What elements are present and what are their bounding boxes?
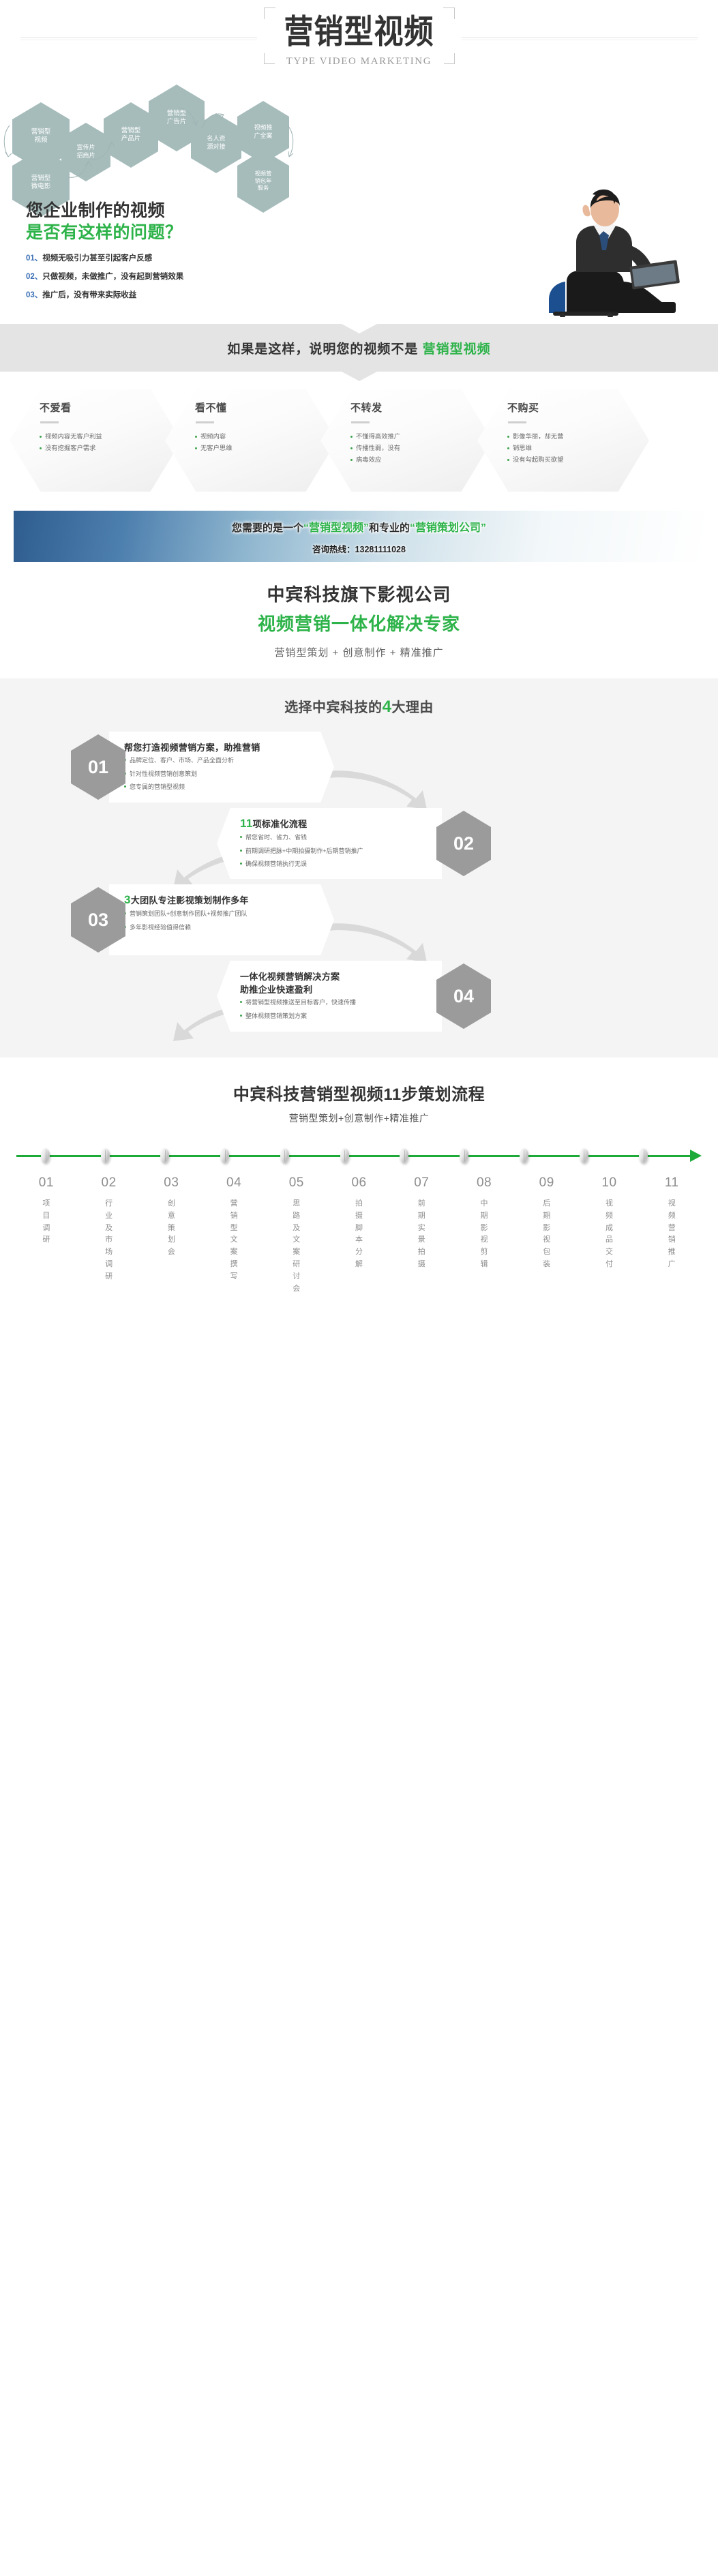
- problem-item-3: 03、推广后，没有带来实际收益: [26, 289, 183, 300]
- reasons-heading: 选择中宾科技的4大理由: [0, 696, 718, 717]
- company-section: 中宾科技旗下影视公司 视频营销一体化解决专家 营销型策划 + 创意制作 + 精准…: [0, 562, 718, 665]
- problem-list: 01、视频无吸引力甚至引起客户反感02、只做视频，未做推广，没有起到营销效果03…: [26, 252, 183, 308]
- bracket-corner-bottom-left: [264, 53, 275, 64]
- gray-banner-plain: 如果是这样，说明您的视频不是: [227, 342, 422, 357]
- problem-title-line2: 是否有这样的问题？: [26, 219, 183, 243]
- timeline-node-02[interactable]: [101, 1148, 110, 1163]
- step-label: 思路及文案研讨会: [265, 1198, 328, 1296]
- hex-label: 营销型视频: [31, 128, 51, 145]
- reason-bullet-1: 品牌定位、客户、市场、产品全面分析: [124, 755, 314, 767]
- cta-l1-a: 您需要的是一个: [232, 522, 303, 534]
- company-subtitle: 营销型策划 + 创意制作 + 精准推广: [0, 645, 718, 659]
- reason-bullet-3: 您专属的营销型视频: [124, 781, 314, 794]
- symptom-bullet-2: 无客户思维: [195, 443, 310, 454]
- symptom-hex-content: 看不懂视频内容无客户思维: [165, 389, 337, 492]
- cta-hotline: 咨询热线：13281111028: [312, 542, 406, 555]
- banner-notch-top: [342, 324, 377, 333]
- reason-card-content: 帮您打造视频营销方案，助推营销品牌定位、客户、市场、产品全面分析针对性视频营销创…: [109, 732, 334, 794]
- timeline-node-08[interactable]: [460, 1148, 468, 1163]
- symptom-bullet-1: 影像华丽，却无营: [507, 431, 622, 443]
- company-tagline: 视频营销一体化解决专家: [0, 610, 718, 635]
- step-label: 创意策划会: [140, 1198, 203, 1259]
- symptom-divider: [196, 421, 214, 423]
- problem-item-number: 02、: [26, 273, 42, 281]
- step-number: 02: [78, 1175, 140, 1190]
- reasons-heading-a: 选择中宾科技的: [284, 700, 383, 715]
- timeline-node-10[interactable]: [580, 1148, 588, 1163]
- reasons-heading-number: 4: [383, 698, 392, 716]
- timeline-node-06[interactable]: [340, 1148, 349, 1163]
- symptom-bullet-1: 视频内容无客户利益: [40, 431, 154, 443]
- reason-title-text: 项标准化流程: [253, 819, 308, 829]
- symptom-hex-content: 不爱看视频内容无客户利益没有挖掘客户需求: [10, 389, 181, 492]
- problem-item-number: 01、: [26, 254, 42, 263]
- reasons-heading-b: 大理由: [391, 700, 434, 715]
- problem-item-text: 视频无吸引力甚至引起客户反感: [42, 254, 152, 263]
- reason-badge-02: 02: [436, 811, 491, 876]
- landing-page: 营销型视频 TYPE VIDEO MARKETING 营销型视频宣传片招商片营销…: [0, 0, 718, 1313]
- reason-card-content: 3大团队专注影视策划制作多年营销策划团队+创意制作团队+视频推广团队多年影视经验…: [109, 884, 334, 933]
- symptom-divider: [351, 421, 370, 423]
- page-header: 营销型视频 TYPE VIDEO MARKETING: [0, 0, 718, 80]
- reason-card-content: 一体化视频营销解决方案助推企业快速盈利将营销型视频推送至目标客户，快速传播整体视…: [217, 961, 442, 1022]
- symptom-bullet-2: 销思维: [507, 443, 622, 454]
- step-column-01[interactable]: 01项目调研: [15, 1175, 78, 1296]
- problem-item-text: 只做视频，未做推广，没有起到营销效果: [42, 273, 183, 281]
- reason-title-text: 大团队专注影视策划制作多年: [131, 895, 249, 905]
- reason-row-2: 11项标准化流程帮您省时、省力、省钱前期调研把脉+中期拍摄制作+后期营销推广确保…: [0, 805, 718, 882]
- step-label: 行业及市场调研: [78, 1198, 140, 1283]
- timeline-node-03[interactable]: [160, 1148, 169, 1163]
- step-column-05[interactable]: 05思路及文案研讨会: [265, 1175, 328, 1296]
- reason-card-content: 11项标准化流程帮您省时、省力、省钱前期调研把脉+中期拍摄制作+后期营销推广确保…: [217, 808, 442, 871]
- step-number: 01: [15, 1175, 78, 1190]
- steps-subtitle: 营销型策划+创意制作+精准推广: [0, 1111, 718, 1125]
- symptom-divider: [40, 421, 59, 423]
- header-bracket-box: 营销型视频 TYPE VIDEO MARKETING: [257, 5, 462, 65]
- reason-card-title: 一体化视频营销解决方案: [240, 970, 421, 983]
- steps-title-b: 步策划流程: [402, 1085, 485, 1104]
- step-number: 07: [390, 1175, 453, 1190]
- cta-l1-quote1: “营销型视频”: [303, 522, 369, 534]
- symptom-bullet-1: 视频内容: [195, 431, 310, 443]
- step-label: 视频成品交付: [578, 1198, 641, 1271]
- symptom-heading: 不购买: [507, 400, 622, 415]
- step-number: 11: [640, 1175, 703, 1190]
- timeline-node-09[interactable]: [520, 1148, 528, 1163]
- hex-label: 视频推广全案: [254, 124, 272, 140]
- step-column-10[interactable]: 10视频成品交付: [578, 1175, 641, 1296]
- reason-title-number: 11: [240, 817, 253, 830]
- reason-badge-04: 04: [436, 963, 491, 1029]
- symptom-hexagon-row: 不爱看视频内容无客户利益没有挖掘客户需求看不懂视频内容无客户思维不转发不懂得高效…: [0, 387, 718, 496]
- reason-card-title: 11项标准化流程: [240, 817, 421, 830]
- step-column-06[interactable]: 06拍摄脚本分解: [328, 1175, 391, 1296]
- reason-bullet-2: 前期调研把脉+中期拍摄制作+后期营销推广: [240, 845, 421, 858]
- step-label: 中期影视剪辑: [453, 1198, 515, 1271]
- step-label: 拍摄脚本分解: [328, 1198, 391, 1271]
- symptom-hex-3[interactable]: 不转发不懂得高效推广传播性弱，没有病毒效应: [320, 389, 492, 492]
- symptom-hex-1[interactable]: 不爱看视频内容无客户利益没有挖掘客户需求: [10, 389, 181, 492]
- timeline-track: [16, 1145, 702, 1166]
- header-rule-left-2: [20, 40, 261, 40]
- reason-bullet-1: 帮您省时、省力、省钱: [240, 832, 421, 844]
- step-column-03[interactable]: 03创意策划会: [140, 1175, 203, 1296]
- page-subtitle: TYPE VIDEO MARKETING: [257, 56, 462, 68]
- step-column-08[interactable]: 08中期影视剪辑: [453, 1175, 515, 1296]
- step-number: 06: [328, 1175, 391, 1190]
- header-rule-left: [20, 38, 261, 38]
- symptom-heading: 不爱看: [40, 400, 154, 415]
- bracket-corner-bottom-right: [444, 53, 455, 64]
- step-label: 视频营销推广: [640, 1198, 703, 1271]
- reason-card-title: 帮您打造视频营销方案，助推营销: [124, 740, 314, 753]
- timeline-node-04[interactable]: [220, 1148, 229, 1163]
- hex-arrow-6: [288, 124, 315, 162]
- cta-blue-banner: 您需要的是一个“营销型视频”和专业的“营销策划公司” 咨询热线：13281111…: [14, 511, 704, 562]
- symptom-bullet-3: 没有勾起购买欲望: [507, 454, 622, 466]
- gray-banner: 如果是这样，说明您的视频不是 营销型视频: [0, 324, 718, 372]
- problem-section: 您企业制作的视频 是否有这样的问题？ 01、视频无吸引力甚至引起客户反感02、只…: [0, 188, 718, 317]
- page-title: 营销型视频: [257, 5, 462, 55]
- reason-bullet-2: 整体视频营销策划方案: [240, 1010, 421, 1023]
- company-title: 中宾科技旗下影视公司: [0, 581, 718, 606]
- steps-title-a: 中宾科技营销型视频: [233, 1085, 384, 1104]
- step-column-07[interactable]: 07前期实景拍摄: [390, 1175, 453, 1296]
- hex-label: 营销型产品片: [121, 127, 141, 143]
- reason-row-1: 帮您打造视频营销方案，助推营销品牌定位、客户、市场、产品全面分析针对性视频营销创…: [0, 729, 718, 805]
- timeline-arrow-icon: [690, 1150, 702, 1162]
- reason-row-4: 一体化视频营销解决方案助推企业快速盈利将营销型视频推送至目标客户，快速传播整体视…: [0, 958, 718, 1034]
- step-number: 03: [140, 1175, 203, 1190]
- hex-arrow-1: [3, 124, 30, 162]
- symptom-hex-4[interactable]: 不购买影像华丽，却无营销思维没有勾起购买欲望: [477, 389, 649, 492]
- reason-card-4[interactable]: 一体化视频营销解决方案助推企业快速盈利将营销型视频推送至目标客户，快速传播整体视…: [217, 961, 442, 1032]
- symptom-heading: 看不懂: [195, 400, 310, 415]
- step-column-09[interactable]: 09后期影视包装: [515, 1175, 578, 1296]
- symptom-bullet-2: 没有挖掘客户需求: [40, 443, 154, 454]
- step-number: 10: [578, 1175, 641, 1190]
- header-rule-right-2: [457, 40, 698, 40]
- symptom-bullet-3: 病毒效应: [350, 454, 465, 466]
- reason-card-3[interactable]: 3大团队专注影视策划制作多年营销策划团队+创意制作团队+视频推广团队多年影视经验…: [109, 884, 334, 955]
- symptom-hex-content: 不购买影像华丽，却无营销思维没有勾起购买欲望: [477, 389, 649, 492]
- problem-item-2: 02、只做视频，未做推广，没有起到营销效果: [26, 271, 183, 282]
- problem-item-text: 推广后，没有带来实际收益: [42, 291, 136, 299]
- service-hexagon-cloud: 营销型视频宣传片招商片营销型产品片营销型广告片名人资源对接视频推广全案营销型微电…: [0, 83, 718, 175]
- reason-bullet-2: 多年影视经验值得信赖: [124, 922, 314, 934]
- step-number: 09: [515, 1175, 578, 1190]
- problem-item-number: 03、: [26, 291, 42, 299]
- reason-card-title-line2: 助推企业快速盈利: [240, 983, 421, 995]
- symptom-hex-content: 不转发不懂得高效推广传播性弱，没有病毒效应: [320, 389, 492, 492]
- steps-columns: 01项目调研02行业及市场调研03创意策划会04营销型文案撰写05思路及文案研讨…: [15, 1175, 703, 1296]
- symptom-hex-2[interactable]: 看不懂视频内容无客户思维: [165, 389, 337, 492]
- reason-card-1[interactable]: 帮您打造视频营销方案，助推营销品牌定位、客户、市场、产品全面分析针对性视频营销创…: [109, 732, 334, 803]
- symptom-heading: 不转发: [350, 400, 465, 415]
- header-rule-right: [457, 38, 698, 38]
- gray-banner-text: 如果是这样，说明您的视频不是 营销型视频: [227, 339, 490, 357]
- timeline-node-11[interactable]: [639, 1148, 648, 1163]
- timeline-line: [16, 1155, 691, 1157]
- reason-row-3: 3大团队专注影视策划制作多年营销策划团队+创意制作团队+视频推广团队多年影视经验…: [0, 882, 718, 958]
- hex-arrow-3: [90, 139, 117, 177]
- cta-line1: 您需要的是一个“营销型视频”和专业的“营销策划公司”: [232, 518, 486, 535]
- businessman-photo: [508, 179, 692, 317]
- steps-title: 中宾科技营销型视频11步策划流程: [0, 1081, 718, 1105]
- step-label: 营销型文案撰写: [203, 1198, 265, 1283]
- cta-l1-quote2: “营销策划公司”: [410, 522, 486, 534]
- timeline-node-07[interactable]: [400, 1148, 408, 1163]
- banner-notch-bottom: [342, 372, 377, 381]
- reason-bullet-3: 确保视频营销执行无误: [240, 858, 421, 871]
- steps-section: 中宾科技营销型视频11步策划流程 营销型策划+创意制作+精准推广 01项目调研0…: [0, 1058, 718, 1313]
- hex-arrow-5: [202, 110, 229, 149]
- step-column-02[interactable]: 02行业及市场调研: [78, 1175, 140, 1296]
- step-label: 后期影视包装: [515, 1198, 578, 1271]
- reason-card-title: 3大团队专注影视策划制作多年: [124, 893, 314, 907]
- step-column-11[interactable]: 11视频营销推广: [640, 1175, 703, 1296]
- reason-card-2[interactable]: 11项标准化流程帮您省时、省力、省钱前期调研把脉+中期拍摄制作+后期营销推广确保…: [217, 808, 442, 879]
- step-label: 项目调研: [15, 1198, 78, 1246]
- symptom-divider: [508, 421, 526, 423]
- step-number: 04: [203, 1175, 265, 1190]
- reason-bullet-1: 将营销型视频推送至目标客户，快速传播: [240, 997, 421, 1009]
- problem-title-line1: 您企业制作的视频: [26, 197, 165, 222]
- problem-item-1: 01、视频无吸引力甚至引起客户反感: [26, 252, 183, 263]
- timeline-node-01[interactable]: [41, 1148, 50, 1163]
- step-label: 前期实景拍摄: [390, 1198, 453, 1271]
- steps-title-number: 11: [383, 1085, 401, 1104]
- cta-l1-b: 和专业的: [369, 522, 410, 534]
- step-number: 05: [265, 1175, 328, 1190]
- gray-banner-accent: 营销型视频: [423, 342, 491, 357]
- reason-bullet-2: 针对性视频营销创意策划: [124, 768, 314, 781]
- symptom-bullet-2: 传播性弱，没有: [350, 443, 465, 454]
- reason-title-text: 帮您打造视频营销方案，助推营销: [124, 743, 260, 753]
- reasons-section: 选择中宾科技的4大理由 帮您打造视频营销方案，助推营销品牌定位、客户、市场、产品…: [0, 678, 718, 1058]
- reason-bullet-1: 营销策划团队+创意制作团队+视频推广团队: [124, 908, 314, 920]
- step-column-04[interactable]: 04营销型文案撰写: [203, 1175, 265, 1296]
- symptom-bullet-1: 不懂得高效推广: [350, 431, 465, 443]
- step-number: 08: [453, 1175, 515, 1190]
- timeline-node-05[interactable]: [280, 1148, 289, 1163]
- reason-title-text: 一体化视频营销解决方案: [240, 972, 340, 982]
